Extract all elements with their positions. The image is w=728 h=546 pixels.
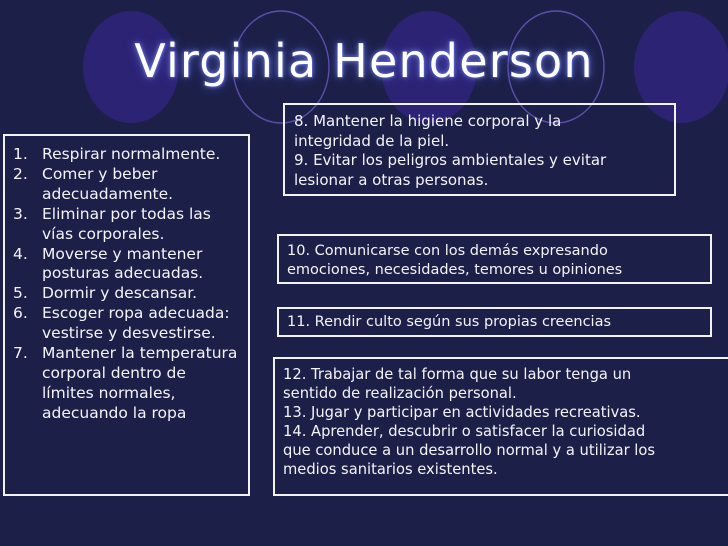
list-item-number: 6. (13, 304, 37, 324)
list-item-number: 5. (13, 284, 37, 304)
list-item-number: 2. (13, 165, 37, 185)
list-item-number: 4. (13, 245, 37, 265)
needs-box-12-14: 12. Trabajar de tal forma que su labor t… (273, 357, 728, 496)
list-item-label: Dormir y descansar. (42, 284, 197, 302)
list-item-label: Eliminar por todas las vías corporales. (42, 205, 211, 243)
list-item-label: Comer y beber adecuadamente. (42, 165, 173, 203)
list-item: 7. Mantener la temperatura corporal dent… (9, 344, 242, 424)
list-item: 4. Moverse y mantener posturas adecuadas… (9, 245, 242, 285)
list-item-number: 1. (13, 145, 37, 165)
list-item: 1. Respirar normalmente. (9, 145, 242, 165)
needs-box-11: 11. Rendir culto según sus propias creen… (277, 307, 712, 337)
needs-box-12-14-text: 12. Trabajar de tal forma que su labor t… (283, 365, 722, 479)
needs-box-10: 10. Comunicarse con los demás expresando… (277, 234, 712, 284)
list-item: 2. Comer y beber adecuadamente. (9, 165, 242, 205)
list-item: 6. Escoger ropa adecuada: vestirse y des… (9, 304, 242, 344)
list-item-label: Escoger ropa adecuada: vestirse y desves… (42, 304, 230, 342)
list-item-number: 7. (13, 344, 37, 364)
page-title: Virginia Henderson (0, 34, 728, 88)
slide-canvas: Virginia Henderson 1. Respirar normalmen… (0, 0, 728, 546)
needs-box-8-9-text: 8. Mantener la higiene corporal y la int… (294, 112, 668, 190)
needs-box-8-9: 8. Mantener la higiene corporal y la int… (283, 103, 676, 196)
list-item-label: Mantener la temperatura corporal dentro … (42, 344, 237, 422)
left-list-box: 1. Respirar normalmente. 2. Comer y bebe… (3, 134, 250, 496)
list-item: 3. Eliminar por todas las vías corporale… (9, 205, 242, 245)
list-item-number: 3. (13, 205, 37, 225)
needs-list-1-7: 1. Respirar normalmente. 2. Comer y bebe… (9, 145, 242, 424)
needs-box-10-text: 10. Comunicarse con los demás expresando… (287, 242, 704, 280)
list-item-label: Moverse y mantener posturas adecuadas. (42, 245, 203, 283)
list-item-label: Respirar normalmente. (42, 145, 220, 163)
needs-box-11-text: 11. Rendir culto según sus propias creen… (287, 313, 704, 332)
list-item: 5. Dormir y descansar. (9, 284, 242, 304)
